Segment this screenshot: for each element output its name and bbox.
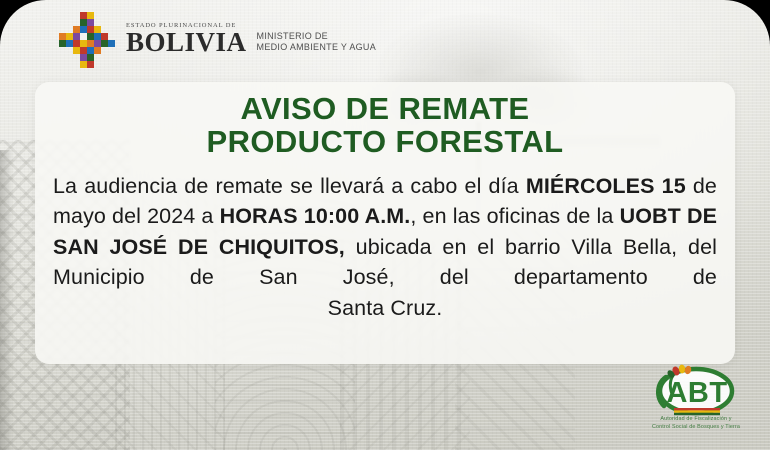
abt-tagline-line-1: Autoridad de Fiscalización y xyxy=(636,416,756,424)
left-edge-shading xyxy=(0,150,14,450)
abt-logo: ABT Autoridad de Fiscalización y Control… xyxy=(636,364,756,432)
notice-card: AVISO DE REMATE PRODUCTO FORESTAL La aud… xyxy=(35,82,735,364)
notice-body: La audiencia de remate se llevará a cabo… xyxy=(53,171,717,324)
abt-tagline: Autoridad de Fiscalización y Control Soc… xyxy=(636,416,756,432)
notice-text-intro: La audiencia de remate se llevará a cabo… xyxy=(53,174,526,198)
bolivia-chakana-emblem xyxy=(56,10,118,68)
notice-time: HORAS 10:00 A.M. xyxy=(220,204,411,228)
notice-poster: ESTADO PLURINACIONAL DE BOLIVIA MINISTER… xyxy=(0,0,770,450)
abt-tagline-line-2: Control Social de Bosques y Tierra xyxy=(636,424,756,432)
title-line-2: PRODUCTO FORESTAL xyxy=(207,125,564,158)
page-title: AVISO DE REMATE PRODUCTO FORESTAL xyxy=(207,92,564,159)
government-header: ESTADO PLURINACIONAL DE BOLIVIA MINISTER… xyxy=(0,0,770,78)
country-name: BOLIVIA xyxy=(126,30,247,55)
government-wordmark: ESTADO PLURINACIONAL DE BOLIVIA MINISTER… xyxy=(126,23,376,55)
ministry-line-1: MINISTERIO DE xyxy=(257,31,377,42)
title-line-1: AVISO DE REMATE xyxy=(240,91,529,126)
notice-date: MIÉRCOLES 15 xyxy=(526,174,686,198)
ministry-line-2: MEDIO AMBIENTE Y AGUA xyxy=(257,42,377,53)
notice-paragraph: La audiencia de remate se llevará a cabo… xyxy=(53,171,717,293)
notice-text-office-intro: , en las oficinas de la xyxy=(410,204,619,228)
svg-text:ABT: ABT xyxy=(666,377,727,409)
ministry-name: MINISTERIO DE MEDIO AMBIENTE Y AGUA xyxy=(257,31,377,56)
notice-department: Santa Cruz. xyxy=(53,293,717,324)
